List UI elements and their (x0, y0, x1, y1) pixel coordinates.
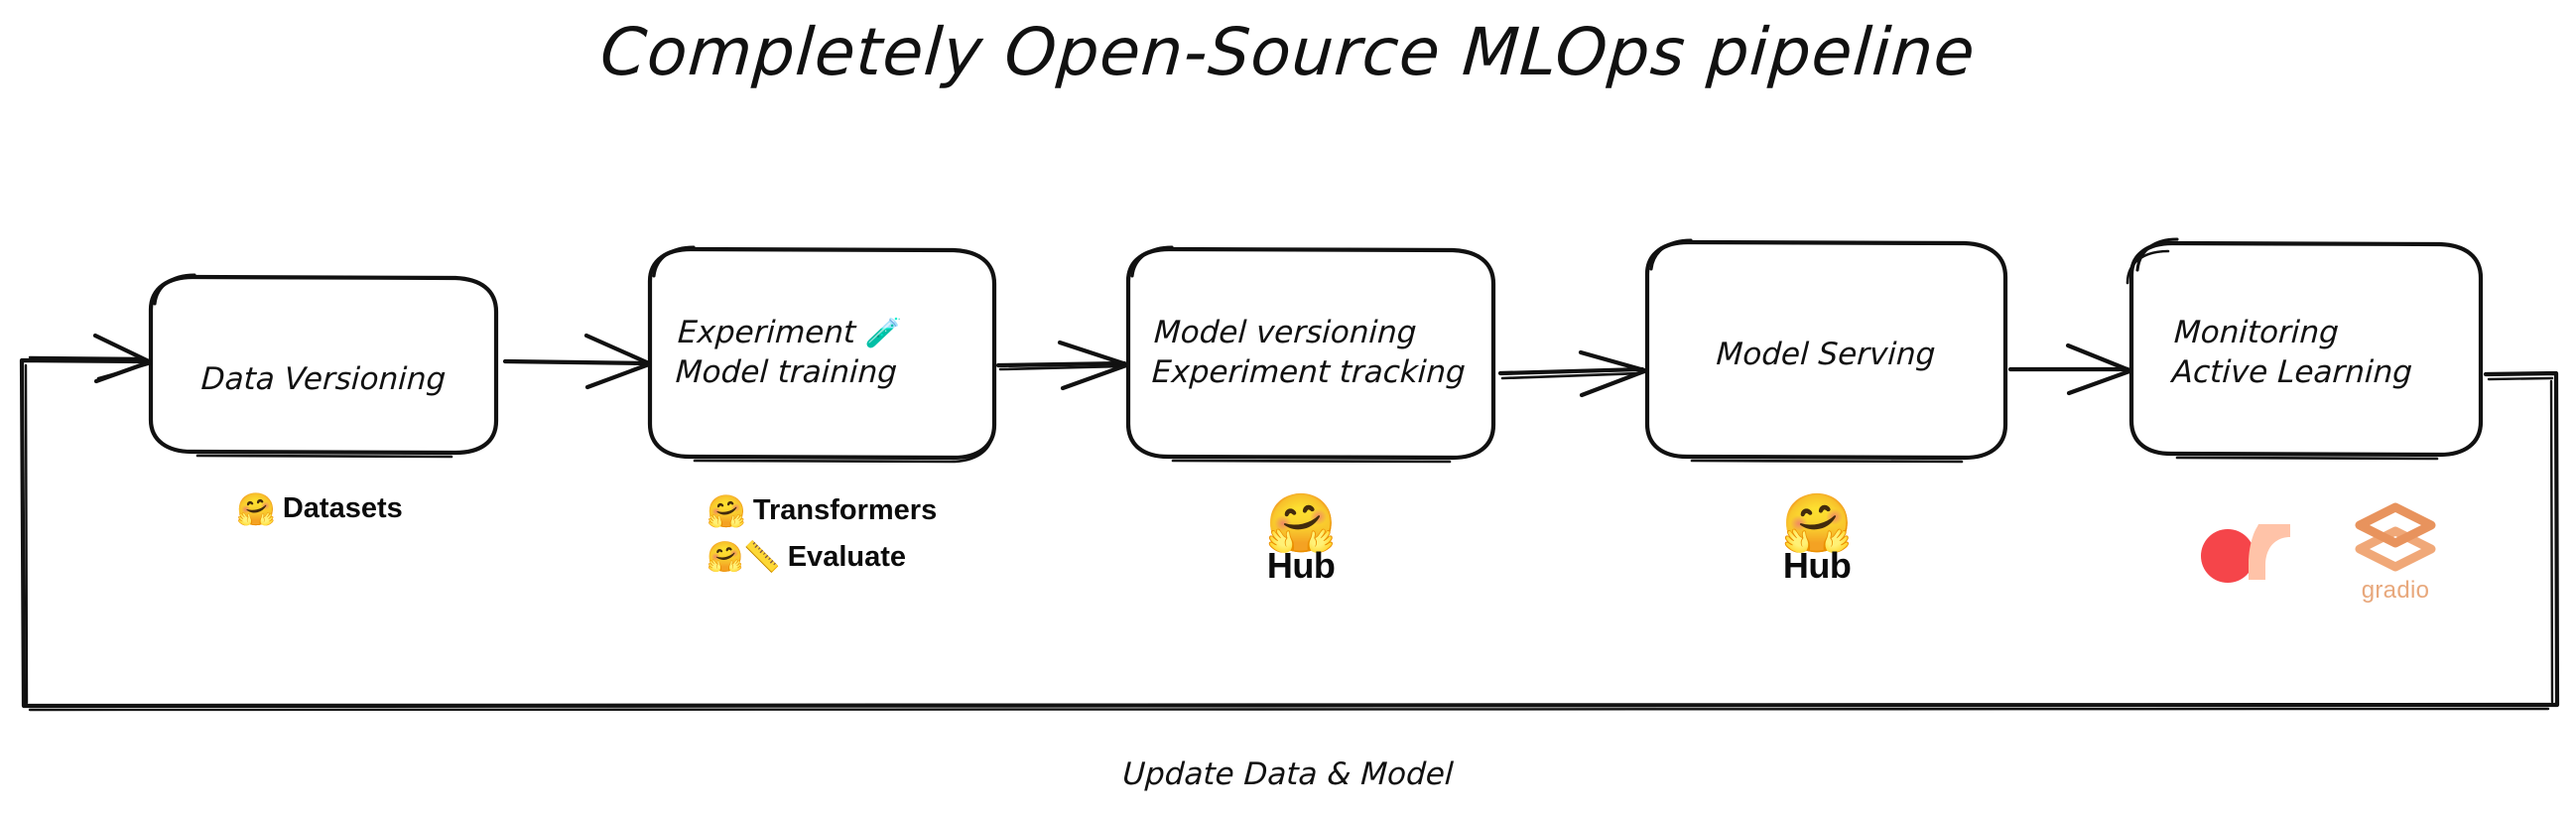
node-label-experiment-model-training: Experiment 🧪 Model training (660, 298, 997, 407)
arrow-model-versioning-to-serving (1500, 352, 1644, 395)
node-label-data-versioning: Data Versioning (147, 310, 499, 449)
hugging-face-icon: 🤗 (1265, 496, 1337, 551)
tool-item-transformers: 🤗 Transformers (707, 494, 937, 527)
arrow-experiment-to-model-versioning (998, 342, 1126, 388)
diagram-canvas: Completely Open-Source MLOps pipeline (0, 0, 2576, 822)
tool-group-training: 🤗 Transformers 🤗📏 Evaluate (707, 494, 937, 574)
node-line: Experiment tracking (1151, 352, 1467, 392)
weights-and-biases-logo (2199, 516, 2294, 590)
tool-label: Transformers (753, 494, 937, 527)
tool-label: Datasets (283, 492, 403, 525)
page-title: Completely Open-Source MLOps pipeline (0, 14, 2576, 90)
node-line: Active Learning (2171, 352, 2413, 392)
tool-item-datasets: 🤗 Datasets (236, 492, 403, 525)
tool-group-hub-tracking: 🤗 Hub (1265, 496, 1337, 587)
hugging-face-icon: 🤗 (707, 495, 746, 527)
tool-item-evaluate: 🤗📏 Evaluate (707, 541, 906, 574)
gradio-label: gradio (2362, 577, 2430, 605)
tool-label: Hub (1783, 545, 1851, 587)
node-label-model-serving: Model Serving (1644, 300, 2007, 409)
node-line: Model training (675, 352, 898, 392)
hugging-face-ruler-icon: 🤗📏 (707, 543, 781, 573)
node-label-model-versioning-experiment-tracking: Model versioning Experiment tracking (1136, 298, 1503, 407)
loop-caption: Update Data & Model (0, 756, 2576, 792)
arrow-data-versioning-to-experiment (505, 336, 649, 387)
arrow-serving-to-monitoring (2010, 345, 2129, 393)
node-line: Data Versioning (200, 359, 448, 399)
tool-label: Evaluate (788, 541, 906, 574)
node-label-monitoring-active-learning: Monitoring Active Learning (2156, 298, 2494, 407)
node-line: Model versioning (1153, 313, 1418, 352)
tool-group-monitoring: gradio (2199, 501, 2437, 605)
node-line: Experiment 🧪 (677, 313, 902, 352)
tool-group-datasets: 🤗 Datasets (236, 492, 403, 525)
test-tube-icon: 🧪 (864, 316, 902, 349)
node-line: Model Serving (1716, 335, 1937, 374)
hugging-face-icon: 🤗 (1781, 496, 1853, 551)
node-line: Monitoring (2173, 313, 2340, 352)
tool-label: Hub (1267, 545, 1335, 587)
tool-group-hub-serving: 🤗 Hub (1781, 496, 1853, 587)
hugging-face-icon: 🤗 (236, 493, 276, 525)
gradio-logo: gradio (2354, 501, 2437, 605)
